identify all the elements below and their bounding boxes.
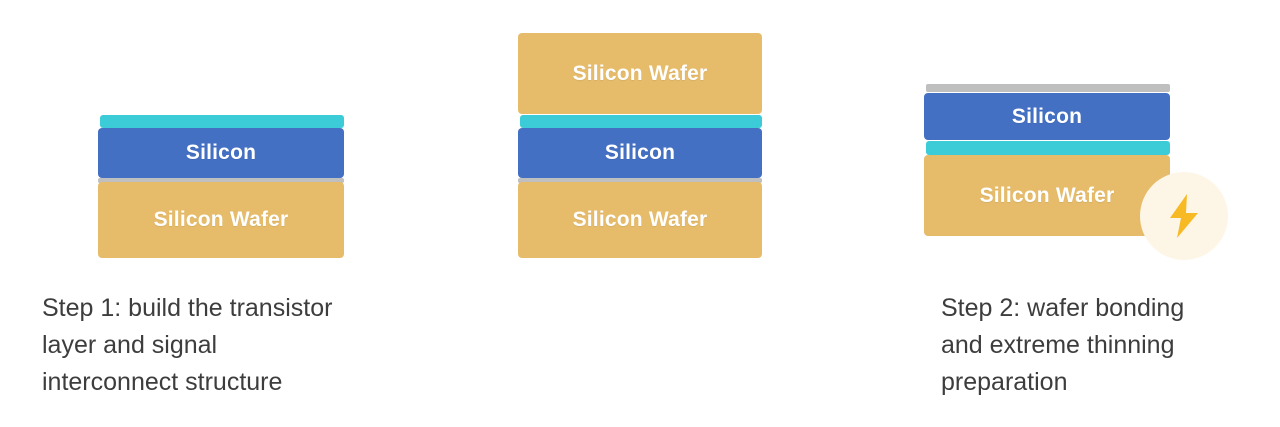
step-3-column: Silicon Silicon Wafer Step 3: backside p… — [890, 0, 1280, 427]
step-1-cyan-bond-strip — [100, 115, 344, 128]
step-3-layer-stack: Silicon Silicon Wafer — [890, 0, 1280, 275]
step-1-column: Silicon Silicon Wafer Step 1: build the … — [0, 0, 460, 427]
step-2-column: Silicon Wafer Silicon Silicon Wafer Step… — [460, 0, 890, 427]
step-2-silicon-wafer-top-layer: Silicon Wafer — [518, 33, 762, 114]
step-3-cyan-bond-strip — [926, 141, 1170, 155]
step-2-cyan-bond-strip — [520, 115, 762, 128]
step-2-silicon-wafer-label: Silicon Wafer — [573, 208, 708, 232]
step-2-layer-stack: Silicon Wafer Silicon Silicon Wafer — [460, 0, 890, 275]
step-1-silicon-wafer-layer: Silicon Wafer — [98, 182, 344, 258]
step-3-silicon-wafer-layer: Silicon Wafer — [924, 155, 1170, 236]
step-2-silicon-label: Silicon — [605, 141, 675, 165]
process-flow-diagram: Silicon Silicon Wafer Step 1: build the … — [0, 0, 1280, 427]
step-2-silicon-wafer-top-label: Silicon Wafer — [573, 62, 708, 86]
step-1-silicon-label: Silicon — [186, 141, 256, 165]
step-1-caption: Step 1: build the transistor layer and s… — [42, 290, 442, 401]
step-3-gray-top-bar — [926, 84, 1170, 92]
step-1-silicon-layer: Silicon — [98, 128, 344, 178]
step-3-silicon-wafer-label: Silicon Wafer — [980, 184, 1115, 208]
step-1-silicon-wafer-label: Silicon Wafer — [154, 208, 289, 232]
step-1-layer-stack: Silicon Silicon Wafer — [0, 0, 460, 275]
lightning-bolt-icon — [1164, 193, 1204, 239]
step-2-silicon-wafer-layer: Silicon Wafer — [518, 182, 762, 258]
step-3-silicon-label: Silicon — [1012, 105, 1082, 129]
step-2-silicon-layer: Silicon — [518, 128, 762, 178]
power-bolt-badge — [1140, 172, 1228, 260]
step-3-silicon-layer: Silicon — [924, 93, 1170, 140]
